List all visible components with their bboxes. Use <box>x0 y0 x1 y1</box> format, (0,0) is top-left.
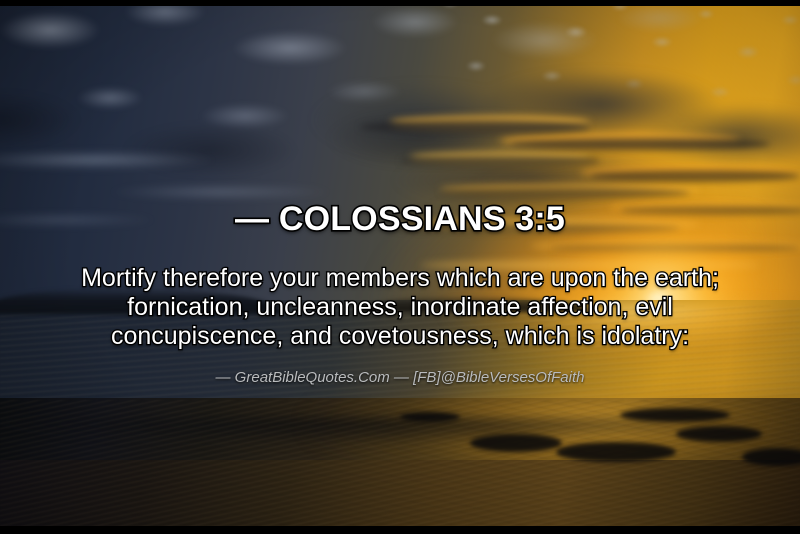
verse-text: Mortify therefore your members which are… <box>32 264 768 351</box>
verse-reference: — COLOSSIANS 3:5 <box>0 198 800 240</box>
verse-line-2: fornication, uncleanness, inordinate aff… <box>32 293 768 322</box>
verse-line-1: Mortify therefore your members which are… <box>32 264 768 293</box>
verse-line-3: concupiscence, and covetousness, which i… <box>32 322 768 351</box>
credit-attribution: — GreatBibleQuotes.Com — [FB]@BibleVerse… <box>0 368 800 388</box>
text-overlay: — COLOSSIANS 3:5 Mortify therefore your … <box>0 0 800 534</box>
verse-image: — COLOSSIANS 3:5 Mortify therefore your … <box>0 0 800 534</box>
